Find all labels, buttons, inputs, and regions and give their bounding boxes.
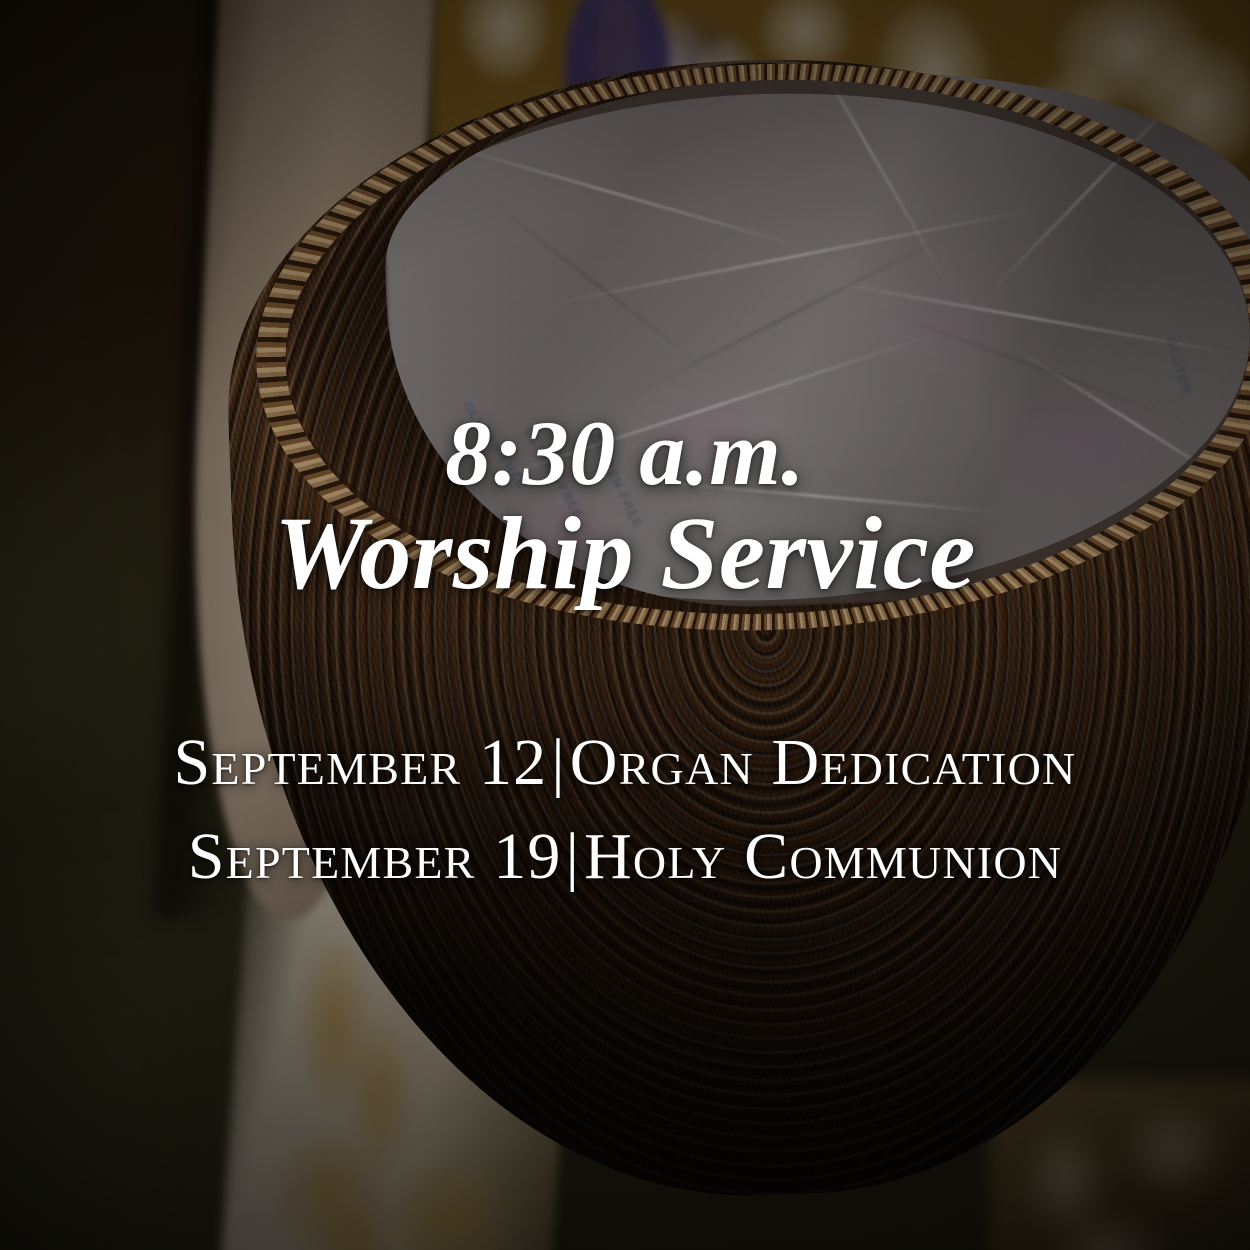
text-layer: 8:30 a.m. Worship Service September 12|O… bbox=[0, 0, 1250, 1250]
date-line: September 12|Organ Dedication bbox=[0, 716, 1250, 810]
date-separator: | bbox=[547, 726, 569, 799]
worship-service-poster: GLUTEN-FREE GLUTEN-FREE GLUTEN-FREE GLUT… bbox=[0, 0, 1250, 1250]
date-value: September 12 bbox=[174, 726, 548, 799]
headline-time: 8:30 a.m. bbox=[0, 404, 1250, 502]
date-value: September 19 bbox=[188, 820, 562, 893]
date-line: September 19|Holy Communion bbox=[0, 810, 1250, 904]
date-separator: | bbox=[562, 820, 584, 893]
event-name: Organ Dedication bbox=[570, 726, 1077, 799]
headline-title: Worship Service bbox=[0, 498, 1250, 609]
headline: 8:30 a.m. Worship Service bbox=[0, 404, 1250, 610]
event-name: Holy Communion bbox=[584, 820, 1062, 893]
date-list: September 12|Organ Dedication September … bbox=[0, 716, 1250, 903]
